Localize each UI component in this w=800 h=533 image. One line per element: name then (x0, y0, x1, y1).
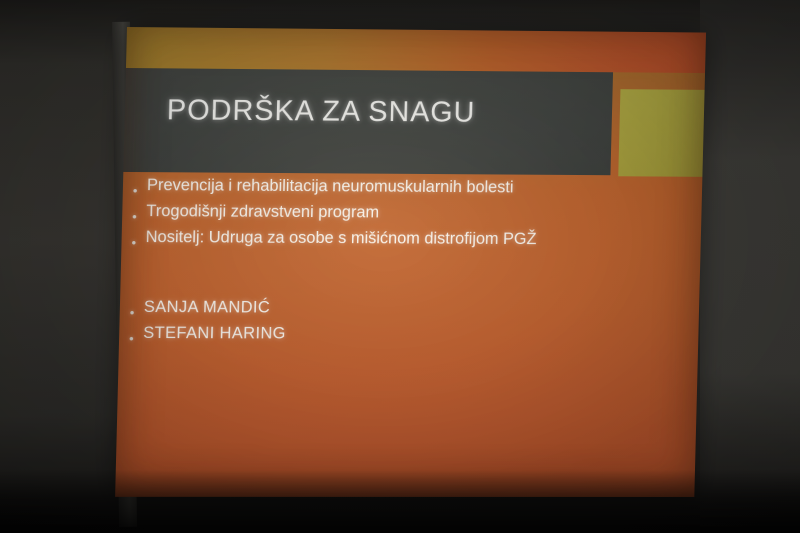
projected-slide: PODRŠKA ZA SNAGU • Prevencija i rehabili… (115, 27, 706, 497)
slide-accent-square (618, 89, 704, 177)
photo-of-projection-screen: PODRŠKA ZA SNAGU • Prevencija i rehabili… (0, 0, 800, 533)
bullet-dot-icon: • (133, 184, 147, 197)
slide-top-accent-band (126, 27, 706, 73)
bullet-dot-icon: • (129, 332, 143, 345)
bullet-dot-icon: • (131, 236, 145, 249)
bullet-dot-icon: • (132, 210, 146, 223)
presenter-name: SANJA MANDIĆ (144, 299, 541, 318)
list-item: • SANJA MANDIĆ (120, 299, 700, 321)
bullet-spacer (120, 255, 700, 301)
slide-canvas: PODRŠKA ZA SNAGU • Prevencija i rehabili… (115, 27, 706, 497)
screen-surround-right (700, 0, 800, 533)
slide-title-band: PODRŠKA ZA SNAGU (123, 68, 613, 175)
bullet-list: • Prevencija i rehabilitacija neuromusku… (119, 177, 702, 347)
list-item: • Trogodišnji zdravstveni program (122, 203, 702, 226)
slide-body: • Prevencija i rehabilitacija neuromusku… (119, 177, 702, 353)
list-item: • STEFANI HARING (119, 325, 699, 347)
slide-title: PODRŠKA ZA SNAGU (166, 94, 475, 129)
bullet-text: Trogodišnji zdravstveni program (146, 203, 543, 223)
presenter-name: STEFANI HARING (143, 325, 540, 344)
bullet-text: Prevencija i rehabilitacija neuromuskula… (147, 177, 544, 197)
bullet-text: Nositelj: Udruga za osobe s mišićnom dis… (145, 229, 542, 249)
list-item: • Prevencija i rehabilitacija neuromusku… (123, 177, 703, 201)
bullet-dot-icon: • (130, 306, 144, 319)
list-item: • Nositelj: Udruga za osobe s mišićnom d… (121, 229, 701, 252)
